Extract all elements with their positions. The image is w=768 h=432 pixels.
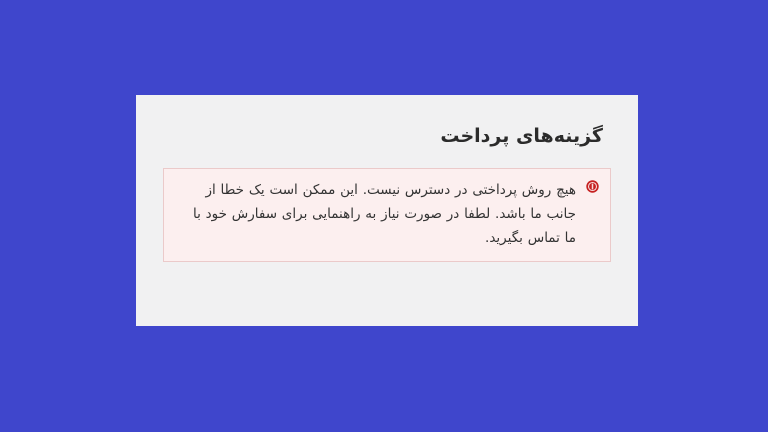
payment-options-card: گزینه‌های پرداخت هیچ روش پرداختی در دستر… <box>136 95 638 326</box>
payment-error-alert: هیچ روش پرداختی در دسترس نیست. این ممکن … <box>163 168 611 262</box>
card-content: گزینه‌های پرداخت هیچ روش پرداختی در دستر… <box>136 95 638 326</box>
error-circle-icon <box>586 180 599 193</box>
page-title: گزینه‌های پرداخت <box>163 122 611 150</box>
payment-error-message: هیچ روش پرداختی در دسترس نیست. این ممکن … <box>178 178 576 250</box>
page-root: گزینه‌های پرداخت هیچ روش پرداختی در دستر… <box>0 0 768 432</box>
